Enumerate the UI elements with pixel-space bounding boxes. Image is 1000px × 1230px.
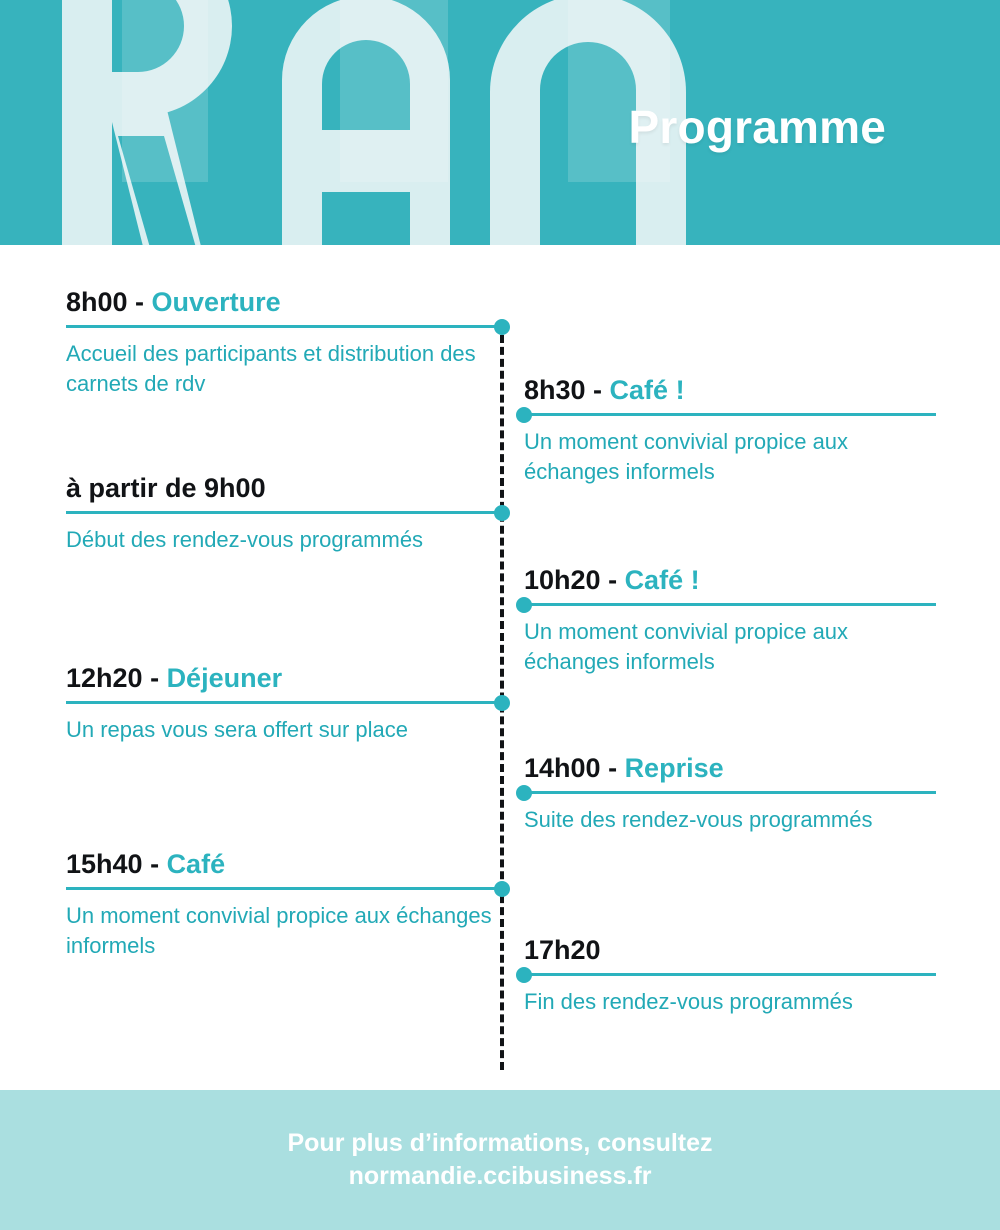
entry-time: 17h20 <box>524 935 601 965</box>
entry-title: 17h20 <box>524 935 936 965</box>
entry-description: Accueil des participants et distribution… <box>66 339 502 399</box>
entry-title: à partir de 9h00 <box>66 473 502 503</box>
entry-time: 10h20 <box>524 565 601 595</box>
entry-title: 10h20 - Café ! <box>524 565 936 595</box>
timeline-dot <box>516 597 532 613</box>
entry-time: à partir de 9h00 <box>66 473 266 503</box>
entry-separator: - <box>601 753 625 783</box>
overlay-band-1 <box>122 0 208 182</box>
page-footer: Pour plus d’informations, consultez norm… <box>0 1090 1000 1230</box>
timeline-dot <box>494 505 510 521</box>
timeline-entry-left-2[interactable]: à partir de 9h00 Début des rendez-vous p… <box>66 473 502 555</box>
timeline-dot <box>494 695 510 711</box>
entry-description: Suite des rendez-vous programmés <box>524 805 936 835</box>
entry-rule <box>66 325 502 328</box>
entry-time: 12h20 <box>66 663 143 693</box>
entry-label: Café <box>167 849 226 879</box>
timeline-entry-left-3[interactable]: 12h20 - Déjeuner Un repas vous sera offe… <box>66 663 502 745</box>
overlay-band-2 <box>340 0 448 182</box>
entry-separator: - <box>586 375 610 405</box>
entry-title: 14h00 - Reprise <box>524 753 936 783</box>
entry-time: 8h00 <box>66 287 128 317</box>
entry-time: 14h00 <box>524 753 601 783</box>
entry-rule <box>66 887 502 890</box>
page-title: Programme <box>629 100 886 154</box>
entry-rule <box>524 413 936 416</box>
entry-rule <box>524 973 936 976</box>
entry-title: 8h30 - Café ! <box>524 375 936 405</box>
entry-rule <box>524 603 936 606</box>
footer-website-url[interactable]: normandie.ccibusiness.fr <box>349 1160 652 1193</box>
timeline-entry-right-4[interactable]: 17h20 Fin des rendez-vous programmés <box>524 935 936 1017</box>
entry-description: Un moment convivial propice aux échanges… <box>524 617 936 677</box>
entry-title: 15h40 - Café <box>66 849 502 879</box>
entry-rule <box>66 701 502 704</box>
entry-title: 8h00 - Ouverture <box>66 287 502 317</box>
entry-rule <box>66 511 502 514</box>
entry-title: 12h20 - Déjeuner <box>66 663 502 693</box>
timeline-entry-left-4[interactable]: 15h40 - Café Un moment convivial propice… <box>66 849 502 961</box>
entry-label: Café ! <box>625 565 700 595</box>
entry-description: Début des rendez-vous programmés <box>66 525 502 555</box>
timeline-dot <box>494 881 510 897</box>
timeline-entry-right-3[interactable]: 14h00 - Reprise Suite des rendez-vous pr… <box>524 753 936 835</box>
entry-description: Un moment convivial propice aux échanges… <box>66 901 502 961</box>
entry-rule <box>524 791 936 794</box>
entry-description: Un repas vous sera offert sur place <box>66 715 502 745</box>
timeline-dot <box>494 319 510 335</box>
entry-separator: - <box>143 663 167 693</box>
entry-label: Café ! <box>610 375 685 405</box>
entry-label: Déjeuner <box>167 663 283 693</box>
timeline-entry-left-1[interactable]: 8h00 - Ouverture Accueil des participant… <box>66 287 502 399</box>
timeline-entry-right-1[interactable]: 8h30 - Café ! Un moment convivial propic… <box>524 375 936 487</box>
entry-separator: - <box>128 287 152 317</box>
footer-line-1: Pour plus d’informations, consultez <box>287 1127 712 1160</box>
entry-description: Fin des rendez-vous programmés <box>524 987 936 1017</box>
entry-time: 8h30 <box>524 375 586 405</box>
entry-time: 15h40 <box>66 849 143 879</box>
entry-label: Ouverture <box>152 287 281 317</box>
page-header: Programme <box>0 0 1000 245</box>
timeline-dot <box>516 407 532 423</box>
timeline-dot <box>516 785 532 801</box>
programme-timeline: 8h00 - Ouverture Accueil des participant… <box>0 245 1000 1090</box>
entry-label: Reprise <box>625 753 724 783</box>
timeline-dot <box>516 967 532 983</box>
entry-description: Un moment convivial propice aux échanges… <box>524 427 936 487</box>
overlay-band-3 <box>568 0 670 182</box>
entry-separator: - <box>143 849 167 879</box>
entry-separator: - <box>601 565 625 595</box>
timeline-entry-right-2[interactable]: 10h20 - Café ! Un moment convivial propi… <box>524 565 936 677</box>
